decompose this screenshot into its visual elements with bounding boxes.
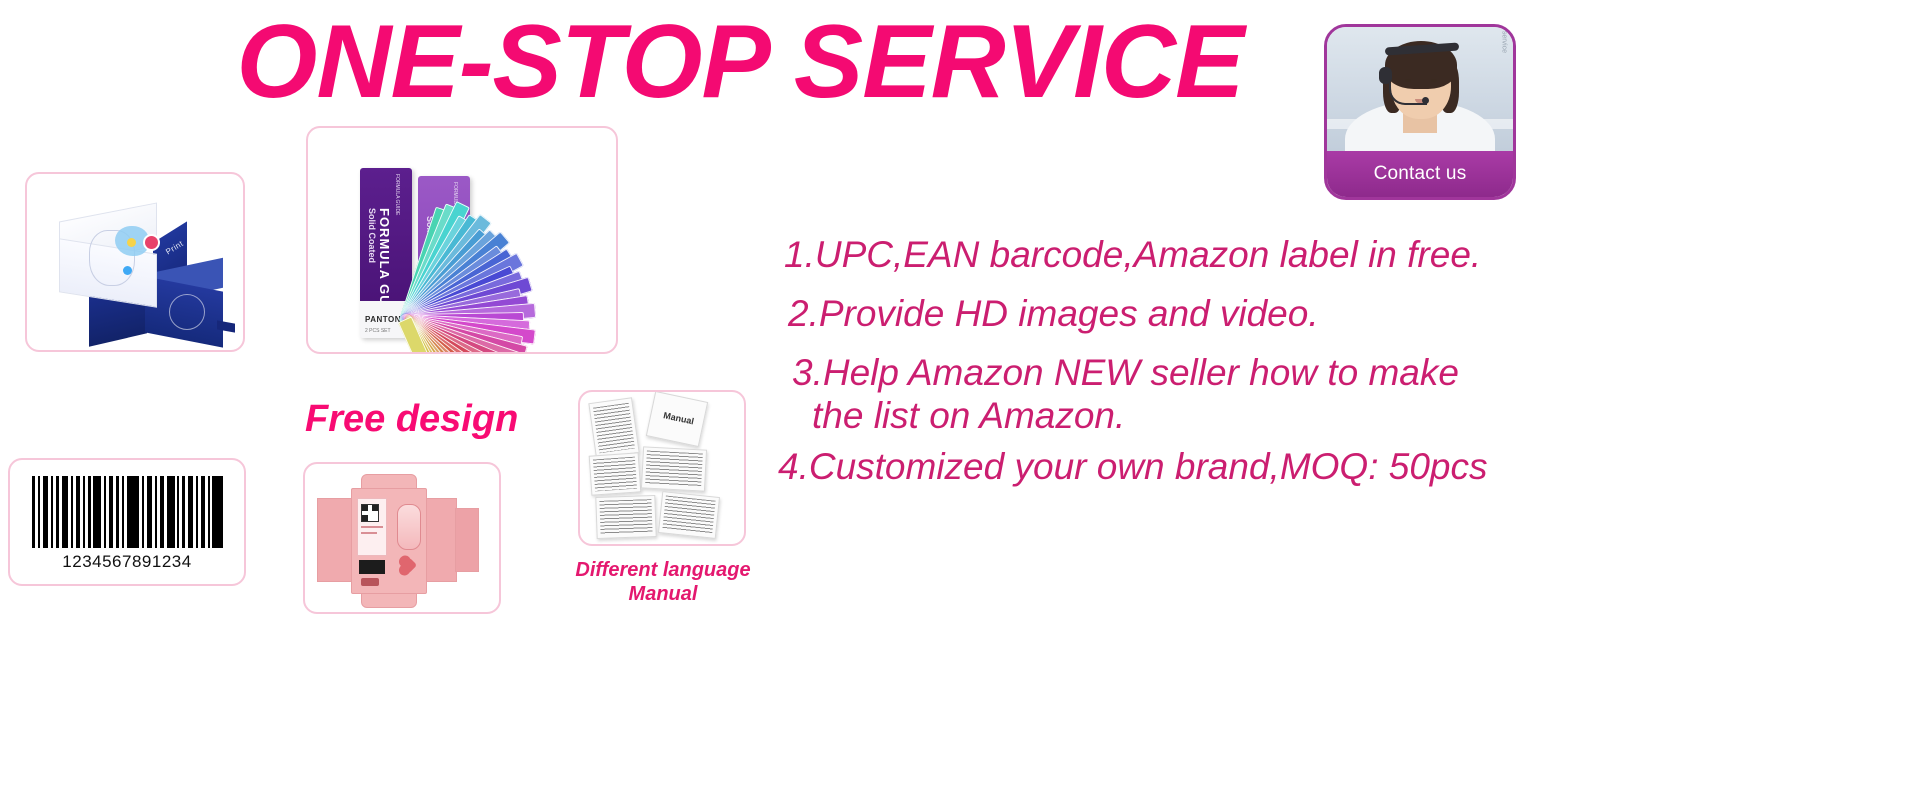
agent-eye-right (1431, 79, 1437, 82)
box-red-seal-icon (143, 234, 160, 251)
manual-sheet (641, 446, 707, 491)
agent-eye-left (1405, 79, 1411, 82)
page-title: ONE-STOP SERVICE (0, 8, 1480, 117)
card-barcode: 1234567891234 (8, 458, 246, 586)
feature-list: 1.UPC,EAN barcode,Amazon label in free. … (778, 236, 1908, 507)
feature-item-1: 1.UPC,EAN barcode,Amazon label in free. (784, 236, 1908, 273)
manual-sheet (595, 495, 656, 539)
pantone-coated-top-label: FORMULA GUIDE (394, 174, 400, 215)
badge-side-text: Professional service (1501, 27, 1508, 53)
card-custom-box: Print (25, 172, 245, 352)
promo-banner: ONE-STOP SERVICE Print 1234567891234 (0, 0, 1920, 800)
manual-cover: Manual (646, 391, 708, 447)
manual-caption-line2: Manual (556, 582, 770, 606)
box-yellow-dot-icon (127, 238, 136, 247)
headset-earcup-icon (1379, 67, 1392, 84)
manual-sheet (588, 397, 639, 459)
pantone-fan-deck (308, 128, 616, 352)
barcode-icon (32, 476, 226, 548)
contact-us-label: Contact us (1374, 163, 1467, 185)
box-blue-dot-icon (123, 266, 132, 275)
card-manual: Manual (578, 390, 746, 546)
manual-sheet (589, 452, 642, 495)
box-illustration: Print (27, 174, 243, 350)
feature-item-2: 2.Provide HD images and video. (788, 295, 1908, 332)
feature-item-3: 3.Help Amazon NEW seller how to make (792, 354, 1908, 391)
contact-us-badge[interactable]: Professional service Contact us (1324, 24, 1516, 200)
feature-item-4: 4.Customized your own brand,MOQ: 50pcs (778, 448, 1908, 485)
dieline-right-panel (425, 498, 457, 582)
card-dieline (303, 462, 501, 614)
free-design-label: Free design (305, 398, 518, 441)
manual-caption-line1: Different language (556, 558, 770, 582)
dieline-logo-icon (361, 578, 379, 586)
qr-code-icon (361, 504, 379, 522)
support-agent-photo: Professional service (1327, 27, 1513, 151)
dieline-barcode-block (359, 560, 385, 574)
pantone-coated-subtitle: Solid Coated (367, 208, 377, 263)
pantone-guide-coated-cap: FORMULA GUIDE FORMULA GUIDE Solid Coated (360, 168, 412, 301)
manual-sheet (658, 491, 720, 539)
headset-mic-tip-icon (1422, 97, 1429, 104)
manual-cover-text: Manual (662, 410, 694, 426)
contact-us-button[interactable]: Contact us (1327, 151, 1513, 197)
dieline-text-line (361, 532, 377, 534)
feature-item-3-continued: the list on Amazon. (812, 397, 1908, 434)
dieline-text-line (361, 526, 383, 528)
card-pantone-guide: FORMULA GUIDE FORMULA GUIDE Solid Coated… (306, 126, 618, 354)
dieline-left-panel (317, 498, 353, 582)
manual-caption: Different language Manual (556, 558, 770, 606)
box-body-logo-icon (169, 294, 205, 330)
dieline-far-panel (455, 508, 479, 572)
pantone-coated-brand-sub: 2 PCS SET (365, 328, 391, 334)
barcode-number: 1234567891234 (10, 552, 244, 572)
dieline-product-art (397, 504, 421, 550)
